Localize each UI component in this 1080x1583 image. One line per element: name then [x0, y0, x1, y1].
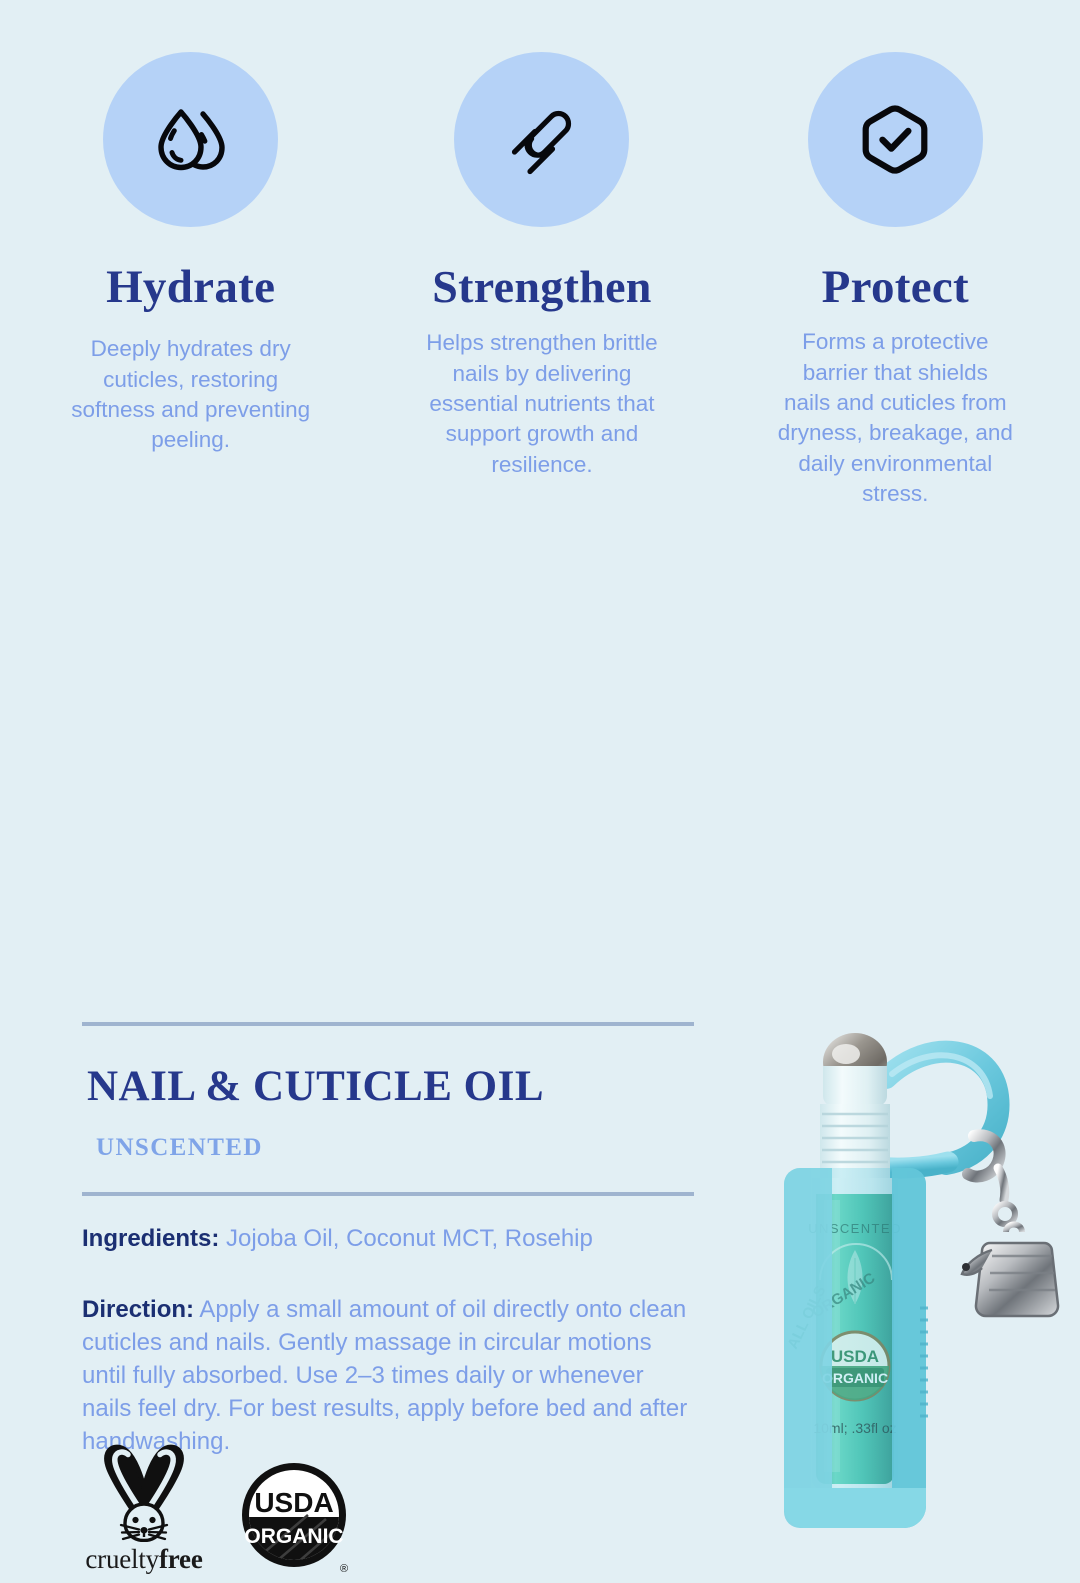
shield-check-icon [808, 52, 983, 227]
benefit-description: Forms a protective barrier that shields … [777, 327, 1013, 509]
ingredients-line: Ingredients: Jojoba Oil, Coconut MCT, Ro… [82, 1222, 694, 1255]
page-title: NAIL & CUTICLE OIL [87, 1062, 694, 1111]
fingernail-icon [454, 52, 629, 227]
directions-line: Direction: Apply a small amount of oil d… [82, 1293, 694, 1459]
product-variant: UNSCENTED [96, 1134, 694, 1162]
usda-organic-badge: USDA ORGANIC ® [238, 1460, 353, 1575]
product-photo: UNSCENTED ALL OILS ORGANIC USDA ORGANIC … [760, 1018, 1080, 1578]
benefit-title: Protect [822, 263, 969, 312]
free-word: free [159, 1544, 203, 1574]
benefit-description: Helps strengthen brittle nails by delive… [416, 328, 668, 480]
benefit-title: Strengthen [432, 263, 651, 311]
divider-top [82, 1022, 694, 1026]
benefit-description: Deeply hydrates dry cuticles, restoring … [66, 334, 316, 456]
cruelty-word: cruelty [85, 1544, 159, 1574]
ingredients-label: Ingredients: [82, 1225, 219, 1252]
benefit-title: Hydrate [106, 263, 275, 312]
benefit-card-hydrate: Hydrate Deeply hydrates dry cuticles, re… [0, 52, 365, 510]
cruelty-free-bunny-logo [81, 1438, 207, 1542]
usda-top-text: USDA [254, 1487, 333, 1518]
cruelty-free-label: crueltyfree [78, 1544, 210, 1575]
usda-organic-seal: USDA ORGANIC ® [238, 1460, 353, 1575]
benefit-card-protect: Protect Forms a protective barrier that … [719, 52, 1080, 510]
divider-bottom [82, 1192, 694, 1196]
benefit-card-strengthen: Strengthen Helps strengthen brittle nail… [365, 52, 718, 510]
nail-oil-roller-bottle: UNSCENTED ALL OILS ORGANIC USDA ORGANIC … [760, 1018, 1080, 1578]
water-drops-icon [103, 52, 278, 227]
direction-label: Direction: [82, 1296, 194, 1323]
registered-mark: ® [340, 1563, 348, 1575]
product-details-panel: NAIL & CUTICLE OIL UNSCENTED Ingredients… [82, 1022, 694, 1459]
cruelty-free-badge: crueltyfree [78, 1438, 210, 1575]
benefits-row: Hydrate Deeply hydrates dry cuticles, re… [0, 0, 1080, 510]
usda-bottom-text: ORGANIC [244, 1525, 343, 1548]
certification-badges: crueltyfree USDA ORGANIC ® [78, 1438, 353, 1575]
ingredients-value: Jojoba Oil, Coconut MCT, Rosehip [226, 1225, 593, 1252]
roller-collar [823, 1066, 887, 1106]
